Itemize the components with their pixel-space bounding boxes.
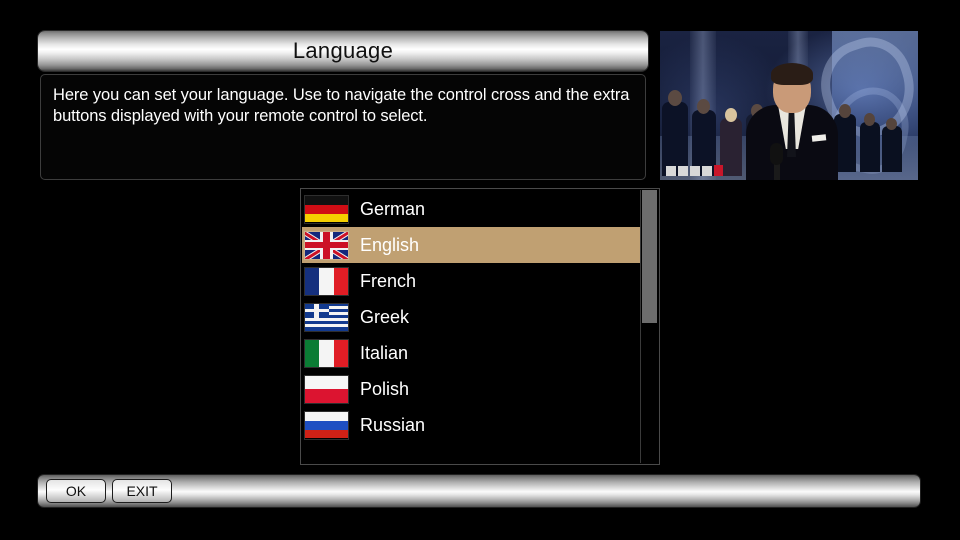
flag-france-icon xyxy=(305,268,348,295)
language-label: English xyxy=(360,236,419,254)
language-list-item-french[interactable]: French xyxy=(302,263,642,299)
language-label: Greek xyxy=(360,308,409,326)
window-title-bar: Language xyxy=(38,31,648,71)
help-description-text: Here you can set your language. Use to n… xyxy=(53,85,633,127)
help-description-panel: Here you can set your language. Use to n… xyxy=(40,74,646,180)
ok-button[interactable]: OK xyxy=(46,479,106,503)
language-list-panel: German English French Greek xyxy=(300,188,660,465)
language-list: German English French Greek xyxy=(302,191,642,443)
flag-russia-icon xyxy=(305,412,348,439)
language-list-item-german[interactable]: German xyxy=(302,191,642,227)
language-list-item-english[interactable]: English xyxy=(302,227,643,263)
language-label: Russian xyxy=(360,416,425,434)
bottom-button-bar: OK EXIT xyxy=(38,475,920,507)
scrollbar-thumb[interactable] xyxy=(642,190,657,323)
flag-united-kingdom-icon xyxy=(305,232,348,259)
language-label: Polish xyxy=(360,380,409,398)
tv-settings-screen: Language Here you can set your language.… xyxy=(0,0,960,540)
flag-italy-icon xyxy=(305,340,348,367)
language-list-item-greek[interactable]: Greek xyxy=(302,299,642,335)
language-label: Italian xyxy=(360,344,408,362)
broadcaster-watermark-icon xyxy=(666,165,723,176)
preview-reporter-hair xyxy=(771,63,813,85)
language-label: German xyxy=(360,200,425,218)
language-list-scrollbar[interactable] xyxy=(640,190,658,463)
flag-greece-icon xyxy=(305,304,348,331)
language-label: French xyxy=(360,272,416,290)
language-list-item-russian[interactable]: Russian xyxy=(302,407,642,443)
flag-germany-icon xyxy=(305,196,348,223)
page-title: Language xyxy=(293,40,393,62)
flag-poland-icon xyxy=(305,376,348,403)
live-tv-preview[interactable] xyxy=(660,31,918,180)
exit-button[interactable]: EXIT xyxy=(112,479,172,503)
language-list-item-italian[interactable]: Italian xyxy=(302,335,642,371)
preview-microphone-icon xyxy=(770,143,783,165)
language-list-item-polish[interactable]: Polish xyxy=(302,371,642,407)
